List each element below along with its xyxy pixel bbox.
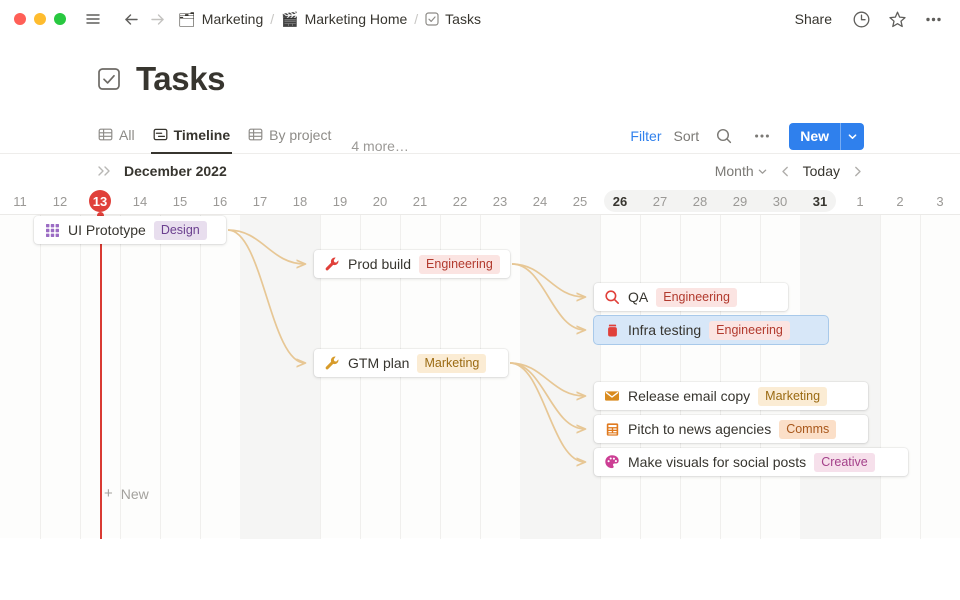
task-card[interactable]: Pitch to news agenciesComms <box>594 415 868 443</box>
timeline-canvas[interactable]: UI PrototypeDesignProd buildEngineeringG… <box>0 214 960 538</box>
timeline-scale-selector[interactable]: Month <box>715 163 768 179</box>
task-tag: Comms <box>779 420 836 439</box>
magnifier-icon <box>604 289 620 305</box>
task-tag: Engineering <box>709 321 790 340</box>
day-ruler-cell[interactable]: 27 <box>640 188 680 214</box>
day-ruler-cell[interactable]: 2 <box>880 188 920 214</box>
day-ruler-cell[interactable]: 21 <box>400 188 440 214</box>
breadcrumb: 🗂 Marketing / 🎬 Marketing Home / Tasks <box>178 11 481 27</box>
hamburger-icon[interactable] <box>80 6 106 32</box>
task-name: Infra testing <box>628 322 701 338</box>
day-number: 1 <box>849 190 871 212</box>
view-tab-bar: All Timeline By project 4 more… Filter S… <box>0 118 960 154</box>
breadcrumb-item-marketing-home[interactable]: 🎬 Marketing Home <box>281 11 407 27</box>
day-ruler-cell[interactable]: 1 <box>840 188 880 214</box>
tab-label: All <box>119 127 135 143</box>
timeline-icon <box>153 127 168 142</box>
day-ruler-cell[interactable]: 17 <box>240 188 280 214</box>
breadcrumb-item-marketing[interactable]: 🗂 Marketing <box>178 11 263 27</box>
ellipsis-icon[interactable] <box>920 6 946 32</box>
task-tag: Marketing <box>758 387 827 406</box>
task-tag: Design <box>154 221 207 240</box>
filter-button[interactable]: Filter <box>630 128 661 144</box>
day-number: 31 <box>809 190 831 212</box>
ellipsis-icon[interactable] <box>749 123 775 149</box>
day-ruler-cell[interactable]: 20 <box>360 188 400 214</box>
day-number: 12 <box>49 190 71 212</box>
tab-timeline[interactable]: Timeline <box>151 118 233 154</box>
day-ruler-cell[interactable]: 15 <box>160 188 200 214</box>
day-ruler-cell[interactable]: 22 <box>440 188 480 214</box>
page-title-row: Tasks <box>96 60 960 98</box>
dependency-arrow <box>228 230 305 363</box>
tab-label: By project <box>269 127 331 143</box>
clapperboard-icon: 🎬 <box>281 12 298 26</box>
tab-by-project[interactable]: By project <box>246 118 333 154</box>
plus-icon: + <box>104 485 113 502</box>
task-card[interactable]: Release email copyMarketing <box>594 382 868 410</box>
task-name: UI Prototype <box>68 222 146 238</box>
view-tabs: All Timeline By project 4 more… <box>96 118 409 154</box>
task-card[interactable]: GTM planMarketing <box>314 349 508 377</box>
breadcrumb-label: Marketing <box>202 11 263 27</box>
dependency-arrow <box>510 363 585 429</box>
breadcrumb-label: Tasks <box>445 11 481 27</box>
task-name: Pitch to news agencies <box>628 421 771 437</box>
close-window-button[interactable] <box>14 13 26 25</box>
day-ruler-cell[interactable]: 25 <box>560 188 600 214</box>
search-icon[interactable] <box>711 123 737 149</box>
task-name: QA <box>628 289 648 305</box>
checkbox-icon <box>425 12 439 26</box>
share-button[interactable]: Share <box>789 9 838 29</box>
page-header: Tasks <box>0 38 960 98</box>
day-number: 15 <box>169 190 191 212</box>
timeline-nav: Month Today <box>715 154 864 188</box>
timeline-day-ruler[interactable]: 1112131415161718192021222324252627282930… <box>0 188 960 214</box>
star-icon[interactable] <box>884 6 910 32</box>
task-card[interactable]: Make visuals for social postsCreative <box>594 448 908 476</box>
day-ruler-cell[interactable]: 29 <box>720 188 760 214</box>
day-ruler-cell[interactable]: 23 <box>480 188 520 214</box>
table-icon <box>98 127 113 142</box>
day-number: 19 <box>329 190 351 212</box>
wrench-icon <box>324 256 340 272</box>
wrench-icon <box>324 355 340 371</box>
day-number: 11 <box>9 190 31 212</box>
newspaper-icon <box>604 421 620 437</box>
day-ruler-cell[interactable]: 28 <box>680 188 720 214</box>
day-number: 24 <box>529 190 551 212</box>
day-number: 18 <box>289 190 311 212</box>
day-ruler-cell[interactable]: 18 <box>280 188 320 214</box>
chevron-down-icon <box>757 166 768 177</box>
chevron-down-icon[interactable] <box>841 123 864 150</box>
task-name: Make visuals for social posts <box>628 454 806 470</box>
window-actions: Share <box>789 0 946 38</box>
day-number: 16 <box>209 190 231 212</box>
day-number: 17 <box>249 190 271 212</box>
day-number: 2 <box>889 190 911 212</box>
day-number: 22 <box>449 190 471 212</box>
day-ruler-cell[interactable]: 16 <box>200 188 240 214</box>
day-ruler-cell[interactable]: 31 <box>800 188 840 214</box>
tab-label: Timeline <box>174 127 231 143</box>
tab-all[interactable]: All <box>96 118 137 154</box>
task-card[interactable]: UI PrototypeDesign <box>34 216 226 244</box>
checkbox-icon[interactable] <box>96 66 122 92</box>
timeline-scale-label: Month <box>715 163 754 179</box>
chevron-left-icon[interactable] <box>779 165 792 178</box>
day-ruler-cell[interactable]: 14 <box>120 188 160 214</box>
back-arrow-icon[interactable] <box>118 6 144 32</box>
task-card[interactable]: Infra testingEngineering <box>594 316 828 344</box>
task-name: GTM plan <box>348 355 409 371</box>
minimize-window-button[interactable] <box>34 13 46 25</box>
palette-icon <box>604 454 620 470</box>
database-icon <box>604 322 620 338</box>
day-ruler-cell[interactable]: 13 <box>80 188 120 214</box>
task-name: Prod build <box>348 256 411 272</box>
day-ruler-cell[interactable]: 26 <box>600 188 640 214</box>
timeline-month-label: December 2022 <box>124 163 227 179</box>
day-number: 27 <box>649 190 671 212</box>
breadcrumb-separator: / <box>269 11 275 27</box>
folder-icon: 🗂 <box>178 12 196 26</box>
day-number: 21 <box>409 190 431 212</box>
dependency-arrow <box>510 363 585 462</box>
dependency-arrow <box>512 264 585 330</box>
window-controls <box>14 13 66 25</box>
grid-icon <box>44 222 60 238</box>
day-number: 28 <box>689 190 711 212</box>
chevron-right-icon[interactable] <box>851 165 864 178</box>
day-number: 14 <box>129 190 151 212</box>
breadcrumb-separator: / <box>413 11 419 27</box>
more-views-button[interactable]: 4 more… <box>351 138 409 154</box>
day-ruler-cell[interactable]: 24 <box>520 188 560 214</box>
maximize-window-button[interactable] <box>54 13 66 25</box>
task-name: Release email copy <box>628 388 750 404</box>
today-vertical-line <box>100 215 102 539</box>
day-number: 20 <box>369 190 391 212</box>
task-tag: Marketing <box>417 354 486 373</box>
forward-arrow-icon[interactable] <box>144 6 170 32</box>
day-number: 13 <box>89 190 111 212</box>
day-number: 26 <box>609 190 631 212</box>
breadcrumb-item-tasks[interactable]: Tasks <box>425 11 481 27</box>
add-new-task-label: New <box>121 486 149 502</box>
day-ruler-cell[interactable]: 3 <box>920 188 960 214</box>
day-number: 25 <box>569 190 591 212</box>
table-icon <box>248 127 263 142</box>
dependency-arrow <box>512 264 585 297</box>
breadcrumb-label: Marketing Home <box>305 11 408 27</box>
day-ruler-cell[interactable]: 12 <box>40 188 80 214</box>
task-card[interactable]: QAEngineering <box>594 283 788 311</box>
task-tag: Engineering <box>656 288 737 307</box>
day-number: 23 <box>489 190 511 212</box>
double-chevron-right-icon[interactable] <box>96 164 114 178</box>
page-title: Tasks <box>136 60 225 98</box>
day-ruler-cell[interactable]: 19 <box>320 188 360 214</box>
new-button-label: New <box>789 123 840 150</box>
clock-icon[interactable] <box>848 6 874 32</box>
day-ruler-cell[interactable]: 30 <box>760 188 800 214</box>
new-button[interactable]: New <box>789 123 864 150</box>
window-title-bar: 🗂 Marketing / 🎬 Marketing Home / Tasks S… <box>0 0 960 38</box>
timeline-grid: 1112131415161718192021222324252627282930… <box>0 188 960 538</box>
timeline-toolbar: December 2022 Month Today <box>0 154 960 188</box>
day-number: 3 <box>929 190 951 212</box>
add-new-task-row[interactable]: + New <box>104 485 149 502</box>
task-card[interactable]: Prod buildEngineering <box>314 250 510 278</box>
view-actions: Filter Sort New <box>630 118 864 154</box>
envelope-icon <box>604 388 620 404</box>
sort-button[interactable]: Sort <box>674 128 700 144</box>
day-number: 29 <box>729 190 751 212</box>
day-ruler-cell[interactable]: 11 <box>0 188 40 214</box>
today-button[interactable]: Today <box>803 163 840 179</box>
task-tag: Engineering <box>419 255 500 274</box>
day-number: 30 <box>769 190 791 212</box>
task-tag: Creative <box>814 453 875 472</box>
